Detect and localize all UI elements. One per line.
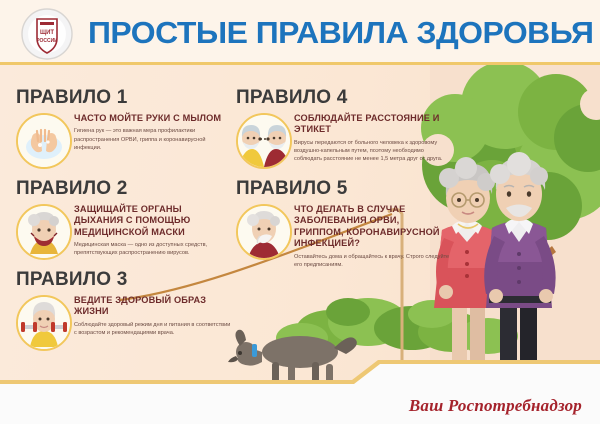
rule-heading: ПРАВИЛО 1: [16, 86, 231, 109]
rule-heading: ПРАВИЛО 3: [16, 268, 231, 291]
rule-text: Вирусы передаются от больного человека к…: [294, 139, 451, 164]
footer-credit: Ваш Роспотребнадзор: [409, 396, 582, 416]
rule-heading: ПРАВИЛО 5: [236, 177, 451, 200]
shield-rossii-logo-icon: ЩИТ РОССИИ: [16, 8, 78, 60]
header-divider: [0, 62, 600, 65]
woman-in-mask-icon: [16, 204, 72, 260]
washing-hands-icon: [16, 113, 72, 169]
rule-heading: ПРАВИЛО 4: [236, 86, 451, 109]
rule-text: Соблюдайте здоровый режим дня и питания …: [74, 321, 231, 337]
rule-text: Гигиена рук — это важная мера профилакти…: [74, 127, 231, 152]
rules-column-left: ПРАВИЛО 1 ЧАСТО МОЙТЕ РУКИ С МЫЛОМ Гигие…: [16, 86, 231, 359]
rule-item-1: ПРАВИЛО 1 ЧАСТО МОЙТЕ РУКИ С МЫЛОМ Гигие…: [16, 86, 231, 169]
svg-text:ЩИТ: ЩИТ: [40, 30, 54, 36]
rule-title: СОБЛЮДАЙТЕ РАССТОЯНИЕ И ЭТИКЕТ: [294, 113, 451, 136]
rule-item-3: ПРАВИЛО 3: [16, 268, 231, 351]
infographic-poster: ЩИТ РОССИИ ПРОСТЫЕ ПРАВИЛА ЗДОРОВЬЯ ПРАВ…: [0, 0, 600, 424]
rules-column-right: ПРАВИЛО 4: [236, 86, 451, 277]
rule-item-4: ПРАВИЛО 4: [236, 86, 451, 169]
rule-text: Медицинская маска — одно из доступных ср…: [74, 241, 231, 257]
rule-heading: ПРАВИЛО 2: [16, 177, 231, 200]
woman-coughing-icon: [236, 204, 292, 260]
man-with-dumbbells-icon: [16, 295, 72, 351]
rule-text: Оставайтесь дома и обращайтесь к врачу. …: [294, 253, 451, 269]
rule-title: ЧАСТО МОЙТЕ РУКИ С МЫЛОМ: [74, 113, 231, 124]
rule-title: ВЕДИТЕ ЗДОРОВЫЙ ОБРАЗ ЖИЗНИ: [74, 295, 231, 318]
page-title: ПРОСТЫЕ ПРАВИЛА ЗДОРОВЬЯ: [88, 12, 593, 54]
svg-text:РОССИИ: РОССИИ: [36, 38, 58, 44]
social-distance-icon: [236, 113, 292, 169]
rule-item-5: ПРАВИЛО 5 ЧТО Д: [236, 177, 451, 269]
rule-item-2: ПРАВИЛО 2 ЗАЩИЩ: [16, 177, 231, 260]
rule-title: ЗАЩИЩАЙТЕ ОРГАНЫ ДЫХАНИЯ С ПОМОЩЬЮ МЕДИЦ…: [74, 204, 231, 238]
rule-title: ЧТО ДЕЛАТЬ В СЛУЧАЕ ЗАБОЛЕВАНИЯ ОРВИ, ГР…: [294, 204, 451, 250]
